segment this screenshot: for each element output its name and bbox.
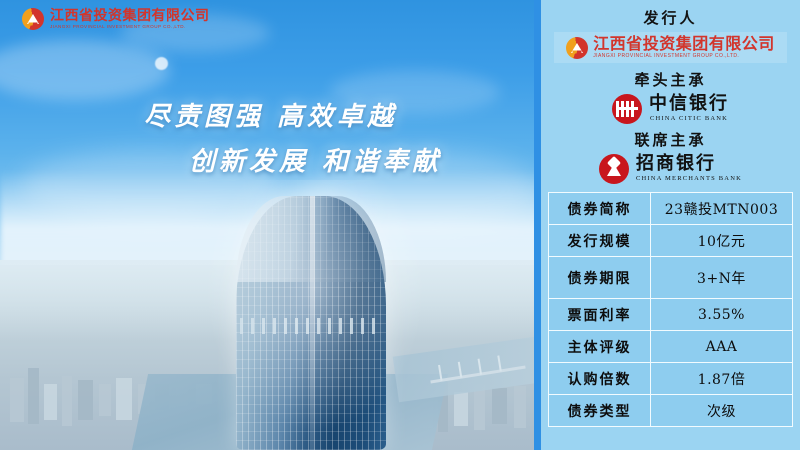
- slogan-line-1: 尽责图强 高效卓越: [0, 96, 541, 133]
- lead-underwriter-name-cn: 中信银行: [649, 95, 729, 113]
- slide-root: 江西省投资集团有限公司 JIANGXI PROVINCIAL INVESTMEN…: [0, 0, 800, 450]
- jiangxi-group-mark-icon: [566, 37, 588, 59]
- row-value: 3.55%: [651, 299, 793, 331]
- cloud: [0, 40, 170, 100]
- row-key: 债券期限: [549, 257, 651, 299]
- table-row: 债券简称 23赣投MTN003: [549, 193, 793, 225]
- row-key: 票面利率: [549, 299, 651, 331]
- issuer-heading: 发行人: [541, 0, 800, 28]
- joint-underwriter-heading: 联席主承: [541, 124, 800, 150]
- row-key: 主体评级: [549, 331, 651, 363]
- slogan-line-2: 创新发展 和谐奉献: [0, 141, 541, 178]
- info-panel: 发行人 江西省投资集团有限公司 JIANGXI PROVINCIAL INVES…: [541, 0, 800, 450]
- row-key: 债券简称: [549, 193, 651, 225]
- moon: [155, 57, 168, 70]
- table-row: 票面利率 3.55%: [549, 299, 793, 331]
- citic-bank-seal-icon: [612, 94, 642, 124]
- joint-underwriter-logo: 招商银行 CHINA MERCHANTS BANK: [541, 154, 800, 184]
- issuer-name-cn: 江西省投资集团有限公司: [593, 36, 775, 52]
- row-value: 3+N年: [651, 257, 793, 299]
- joint-underwriter-name-cn: 招商银行: [636, 155, 742, 173]
- table-row: 债券期限 3+N年: [549, 257, 793, 299]
- jiangxi-group-mark-icon: [22, 8, 44, 30]
- row-key: 发行规模: [549, 225, 651, 257]
- row-value: 1.87倍: [651, 363, 793, 395]
- joint-underwriter-name-en: CHINA MERCHANTS BANK: [636, 176, 742, 183]
- row-value: 23赣投MTN003: [651, 193, 793, 225]
- hero-photo: 江西省投资集团有限公司 JIANGXI PROVINCIAL INVESTMEN…: [0, 0, 541, 450]
- bond-details-table: 债券简称 23赣投MTN003 发行规模 10亿元 债券期限 3+N年 票面利率…: [548, 192, 793, 427]
- row-value: AAA: [651, 331, 793, 363]
- skyscraper-fins: [240, 318, 382, 334]
- issuer-logo: 江西省投资集团有限公司 JIANGXI PROVINCIAL INVESTMEN…: [554, 32, 787, 63]
- row-value: 次级: [651, 395, 793, 427]
- issuer-name-en: JIANGXI PROVINCIAL INVESTMENT GROUP CO.,…: [593, 54, 775, 59]
- table-row: 主体评级 AAA: [549, 331, 793, 363]
- lead-underwriter-logo: 中信银行 CHINA CITIC BANK: [541, 94, 800, 124]
- company-logo-overlay: 江西省投资集团有限公司 JIANGXI PROVINCIAL INVESTMEN…: [22, 8, 210, 30]
- lead-underwriter-heading: 牵头主承: [541, 63, 800, 90]
- panel-edge-strip: [534, 0, 541, 450]
- lead-underwriter-name-en: CHINA CITIC BANK: [649, 116, 729, 123]
- slogan-block: 尽责图强 高效卓越 创新发展 和谐奉献: [0, 96, 541, 178]
- china-merchants-bank-seal-icon: [599, 154, 629, 184]
- company-name-en: JIANGXI PROVINCIAL INVESTMENT GROUP CO.,…: [50, 25, 210, 30]
- table-row: 发行规模 10亿元: [549, 225, 793, 257]
- company-name-cn: 江西省投资集团有限公司: [50, 9, 210, 23]
- row-value: 10亿元: [651, 225, 793, 257]
- table-row: 债券类型 次级: [549, 395, 793, 427]
- table-row: 认购倍数 1.87倍: [549, 363, 793, 395]
- row-key: 债券类型: [549, 395, 651, 427]
- row-key: 认购倍数: [549, 363, 651, 395]
